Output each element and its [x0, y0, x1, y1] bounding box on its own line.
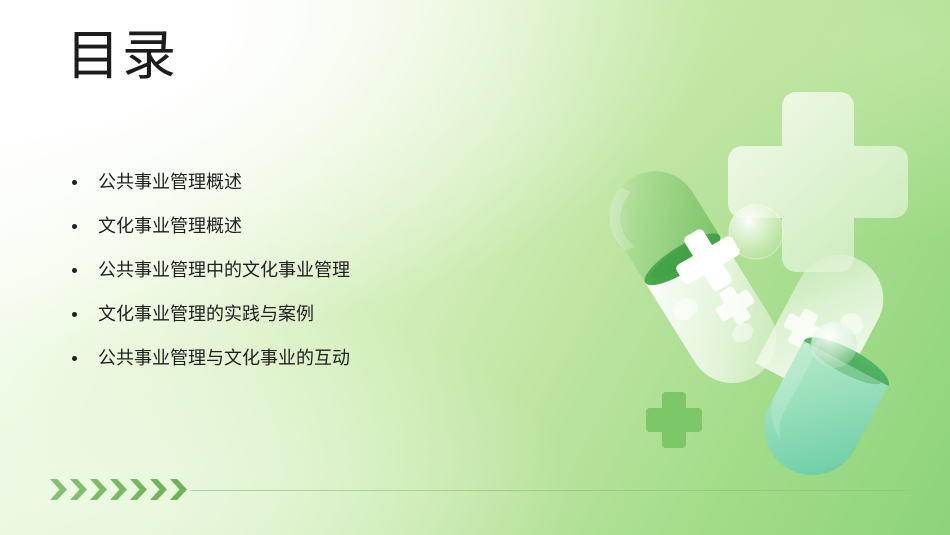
- chevron-right-icon: [130, 479, 147, 500]
- toc-item-1[interactable]: 公共事业管理概述: [66, 160, 546, 204]
- footer-rule: [190, 490, 910, 491]
- chevron-right-icon: [170, 479, 187, 500]
- bullet-icon: [72, 356, 77, 361]
- toc-item-label: 文化事业管理概述: [98, 216, 242, 236]
- footer-decoration: [50, 479, 910, 501]
- chevron-right-icon: [150, 479, 167, 500]
- toc-item-4[interactable]: 文化事业管理的实践与案例: [66, 292, 546, 336]
- bullet-icon: [72, 224, 77, 229]
- toc-item-label: 公共事业管理概述: [98, 172, 242, 192]
- bullet-icon: [72, 268, 77, 273]
- chevron-right-icon: [50, 479, 67, 500]
- chevron-right-icon: [110, 479, 127, 500]
- page-title: 目录: [66, 26, 178, 86]
- toc-list: 公共事业管理概述 文化事业管理概述 公共事业管理中的文化事业管理 文化事业管理的…: [66, 160, 546, 380]
- bullet-icon: [72, 180, 77, 185]
- chevron-row: [50, 479, 187, 500]
- slide-canvas: 目录 公共事业管理概述 文化事业管理概述 公共事业管理中的文化事业管理 文化事业…: [0, 0, 950, 535]
- chevron-right-icon: [90, 479, 107, 500]
- toc-item-5[interactable]: 公共事业管理与文化事业的互动: [66, 336, 546, 380]
- toc-item-3[interactable]: 公共事业管理中的文化事业管理: [66, 248, 546, 292]
- toc-item-label: 公共事业管理与文化事业的互动: [98, 348, 350, 368]
- chevron-right-icon: [70, 479, 87, 500]
- toc-item-label: 文化事业管理的实践与案例: [98, 304, 314, 324]
- toc-item-2[interactable]: 文化事业管理概述: [66, 204, 546, 248]
- toc-item-label: 公共事业管理中的文化事业管理: [98, 260, 350, 280]
- bullet-icon: [72, 312, 77, 317]
